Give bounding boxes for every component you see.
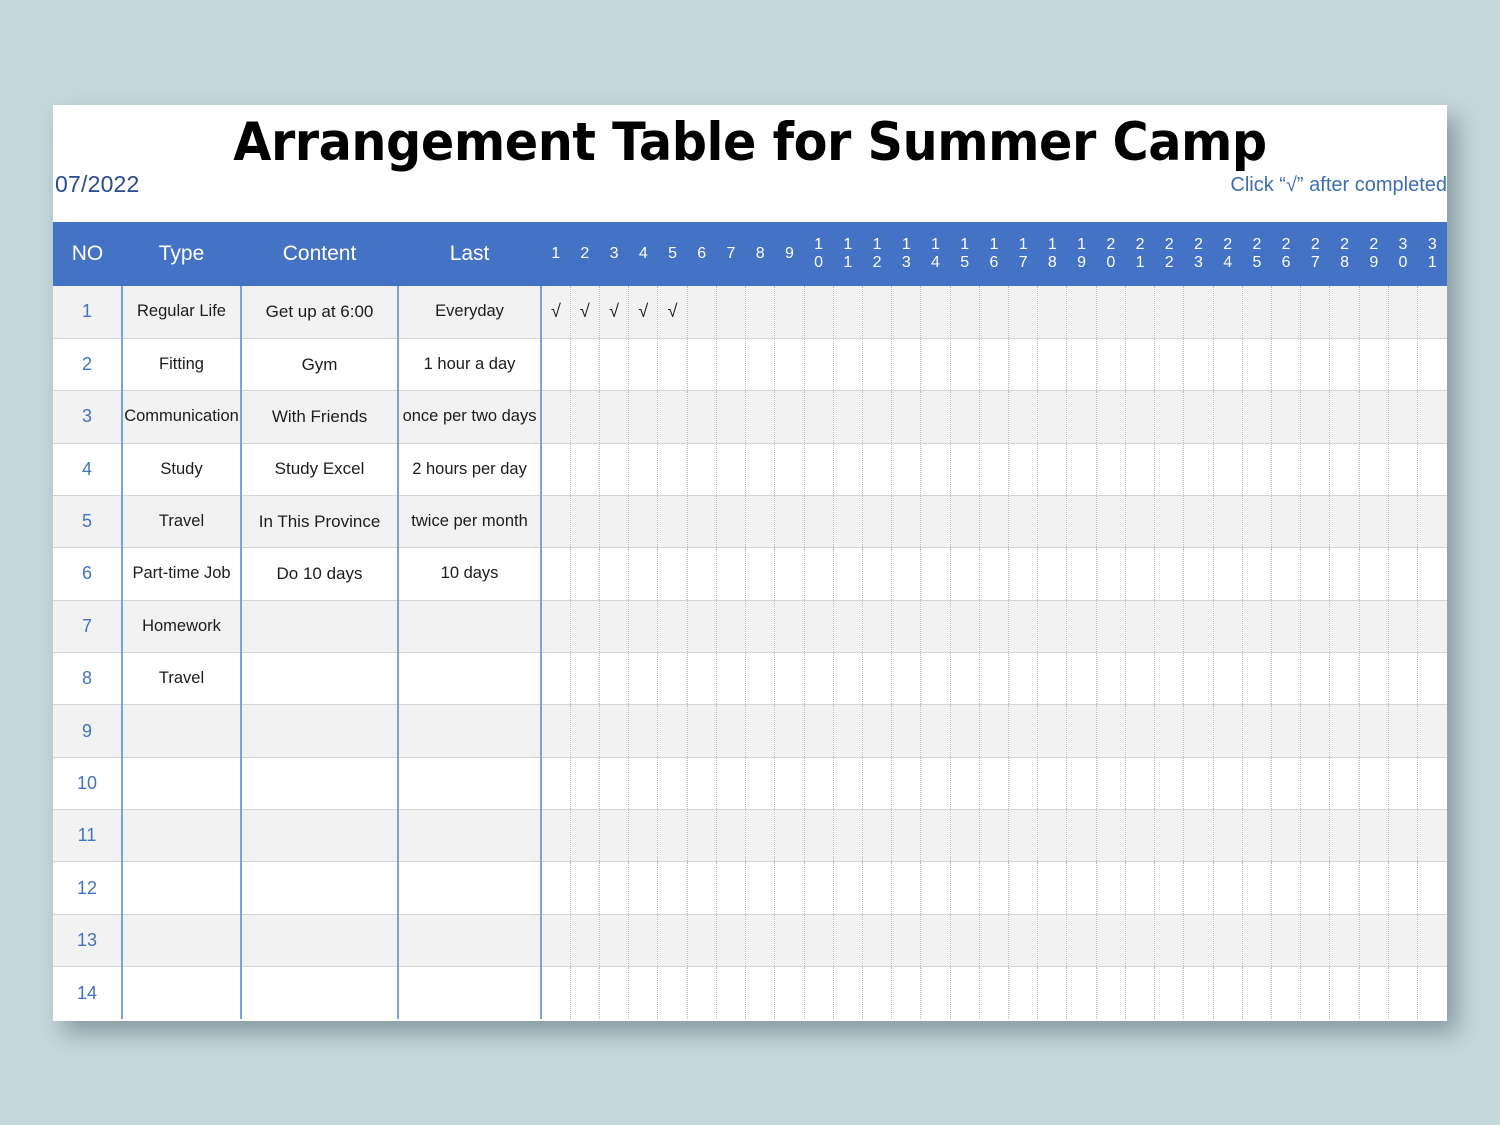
cell-day-8[interactable] [746,495,775,547]
cell-day-6[interactable] [687,914,716,966]
cell-day-9[interactable] [775,548,804,600]
cell-day-2[interactable] [570,757,599,809]
cell-day-12[interactable] [862,548,891,600]
column-header-day-17[interactable]: 17 [1009,222,1038,286]
cell-day-16[interactable] [979,600,1008,652]
cell-last[interactable]: once per two days [398,391,541,443]
cell-day-15[interactable] [950,338,979,390]
column-header-content[interactable]: Content [241,222,398,286]
cell-day-1[interactable] [541,810,570,862]
cell-day-27[interactable] [1301,600,1330,652]
cell-day-6[interactable] [687,286,716,338]
cell-day-8[interactable] [746,810,775,862]
cell-day-9[interactable] [775,286,804,338]
column-header-type[interactable]: Type [122,222,241,286]
cell-day-21[interactable] [1125,914,1154,966]
cell-day-18[interactable] [1038,548,1067,600]
cell-day-10[interactable] [804,705,833,757]
column-header-day-31[interactable]: 31 [1418,222,1447,286]
cell-day-24[interactable] [1213,653,1242,705]
column-header-day-11[interactable]: 11 [833,222,862,286]
cell-last[interactable] [398,862,541,914]
cell-content[interactable]: In This Province [241,495,398,547]
cell-day-24[interactable] [1213,757,1242,809]
cell-day-6[interactable] [687,653,716,705]
cell-day-19[interactable] [1067,757,1096,809]
cell-no[interactable]: 11 [53,810,122,862]
cell-day-31[interactable] [1418,600,1447,652]
cell-day-21[interactable] [1125,286,1154,338]
column-header-day-21[interactable]: 21 [1125,222,1154,286]
cell-day-10[interactable] [804,757,833,809]
cell-day-19[interactable] [1067,338,1096,390]
cell-day-27[interactable] [1301,967,1330,1019]
cell-day-17[interactable] [1009,548,1038,600]
cell-day-26[interactable] [1272,967,1301,1019]
cell-type[interactable] [122,705,241,757]
cell-content[interactable]: Gym [241,338,398,390]
cell-day-22[interactable] [1155,705,1184,757]
cell-day-19[interactable] [1067,810,1096,862]
cell-last[interactable]: 1 hour a day [398,338,541,390]
column-header-day-1[interactable]: 1 [541,222,570,286]
cell-day-19[interactable] [1067,495,1096,547]
column-header-day-18[interactable]: 18 [1038,222,1067,286]
cell-day-17[interactable] [1009,914,1038,966]
cell-day-17[interactable] [1009,757,1038,809]
cell-day-23[interactable] [1184,443,1213,495]
cell-day-22[interactable] [1155,286,1184,338]
column-header-day-27[interactable]: 27 [1301,222,1330,286]
cell-day-26[interactable] [1272,653,1301,705]
cell-day-13[interactable] [892,810,921,862]
cell-type[interactable]: Homework [122,600,241,652]
cell-day-26[interactable] [1272,914,1301,966]
cell-day-1[interactable] [541,495,570,547]
cell-day-28[interactable] [1330,600,1359,652]
cell-day-14[interactable] [921,757,950,809]
cell-day-9[interactable] [775,391,804,443]
cell-day-17[interactable] [1009,705,1038,757]
cell-day-25[interactable] [1242,757,1271,809]
cell-no[interactable]: 9 [53,705,122,757]
column-header-day-15[interactable]: 15 [950,222,979,286]
cell-day-15[interactable] [950,600,979,652]
cell-day-23[interactable] [1184,757,1213,809]
cell-day-2[interactable] [570,705,599,757]
cell-day-20[interactable] [1096,705,1125,757]
cell-day-31[interactable] [1418,862,1447,914]
cell-day-6[interactable] [687,391,716,443]
cell-day-16[interactable] [979,705,1008,757]
cell-day-21[interactable] [1125,653,1154,705]
cell-day-23[interactable] [1184,600,1213,652]
cell-content[interactable]: Study Excel [241,443,398,495]
cell-type[interactable] [122,914,241,966]
cell-day-2-checkmark-icon[interactable]: √ [570,286,599,338]
cell-day-11[interactable] [833,967,862,1019]
cell-day-21[interactable] [1125,862,1154,914]
cell-day-24[interactable] [1213,967,1242,1019]
cell-day-14[interactable] [921,443,950,495]
cell-day-20[interactable] [1096,810,1125,862]
cell-day-17[interactable] [1009,600,1038,652]
cell-day-9[interactable] [775,600,804,652]
cell-day-30[interactable] [1388,653,1417,705]
cell-day-3[interactable] [599,653,628,705]
cell-day-16[interactable] [979,391,1008,443]
cell-day-1[interactable] [541,600,570,652]
cell-day-26[interactable] [1272,443,1301,495]
cell-day-11[interactable] [833,286,862,338]
cell-day-25[interactable] [1242,914,1271,966]
cell-day-6[interactable] [687,705,716,757]
cell-day-26[interactable] [1272,286,1301,338]
cell-day-1[interactable] [541,705,570,757]
cell-day-3[interactable] [599,967,628,1019]
cell-day-4[interactable] [629,600,658,652]
cell-day-10[interactable] [804,338,833,390]
cell-day-30[interactable] [1388,391,1417,443]
cell-day-24[interactable] [1213,495,1242,547]
cell-type[interactable]: Travel [122,495,241,547]
cell-day-10[interactable] [804,600,833,652]
cell-day-18[interactable] [1038,757,1067,809]
cell-day-31[interactable] [1418,914,1447,966]
cell-day-7[interactable] [716,914,745,966]
cell-day-20[interactable] [1096,967,1125,1019]
cell-day-10[interactable] [804,967,833,1019]
cell-day-18[interactable] [1038,443,1067,495]
cell-day-3[interactable] [599,862,628,914]
cell-day-6[interactable] [687,495,716,547]
cell-day-27[interactable] [1301,391,1330,443]
column-header-no[interactable]: NO [53,222,122,286]
cell-day-22[interactable] [1155,653,1184,705]
cell-day-25[interactable] [1242,495,1271,547]
cell-day-13[interactable] [892,862,921,914]
cell-day-28[interactable] [1330,862,1359,914]
cell-day-22[interactable] [1155,914,1184,966]
cell-day-2[interactable] [570,600,599,652]
cell-day-23[interactable] [1184,862,1213,914]
cell-day-25[interactable] [1242,548,1271,600]
cell-day-31[interactable] [1418,810,1447,862]
cell-day-30[interactable] [1388,286,1417,338]
cell-day-24[interactable] [1213,810,1242,862]
cell-day-7[interactable] [716,757,745,809]
column-header-day-19[interactable]: 19 [1067,222,1096,286]
cell-day-29[interactable] [1359,967,1388,1019]
cell-day-12[interactable] [862,443,891,495]
cell-day-25[interactable] [1242,653,1271,705]
cell-last[interactable] [398,705,541,757]
cell-last[interactable] [398,914,541,966]
cell-last[interactable] [398,600,541,652]
cell-day-2[interactable] [570,495,599,547]
cell-day-7[interactable] [716,443,745,495]
cell-no[interactable]: 6 [53,548,122,600]
cell-day-29[interactable] [1359,495,1388,547]
cell-day-30[interactable] [1388,862,1417,914]
cell-day-3[interactable] [599,810,628,862]
cell-day-12[interactable] [862,286,891,338]
cell-day-13[interactable] [892,600,921,652]
cell-no[interactable]: 10 [53,757,122,809]
cell-day-24[interactable] [1213,391,1242,443]
cell-day-28[interactable] [1330,286,1359,338]
cell-day-30[interactable] [1388,810,1417,862]
cell-content[interactable] [241,757,398,809]
cell-day-10[interactable] [804,495,833,547]
cell-day-28[interactable] [1330,548,1359,600]
cell-day-4[interactable] [629,757,658,809]
cell-type[interactable] [122,862,241,914]
cell-day-21[interactable] [1125,443,1154,495]
cell-day-16[interactable] [979,757,1008,809]
cell-day-10[interactable] [804,391,833,443]
cell-day-6[interactable] [687,443,716,495]
cell-day-7[interactable] [716,653,745,705]
cell-day-4[interactable] [629,914,658,966]
cell-day-7[interactable] [716,810,745,862]
cell-day-8[interactable] [746,443,775,495]
cell-day-10[interactable] [804,443,833,495]
cell-day-8[interactable] [746,548,775,600]
cell-day-28[interactable] [1330,653,1359,705]
cell-day-14[interactable] [921,705,950,757]
cell-day-25[interactable] [1242,600,1271,652]
cell-day-12[interactable] [862,600,891,652]
cell-day-7[interactable] [716,338,745,390]
cell-day-2[interactable] [570,862,599,914]
column-header-day-8[interactable]: 8 [746,222,775,286]
cell-day-15[interactable] [950,391,979,443]
column-header-day-7[interactable]: 7 [716,222,745,286]
cell-day-11[interactable] [833,653,862,705]
cell-day-16[interactable] [979,443,1008,495]
cell-day-20[interactable] [1096,757,1125,809]
cell-day-13[interactable] [892,338,921,390]
cell-type[interactable] [122,810,241,862]
cell-day-21[interactable] [1125,600,1154,652]
column-header-day-3[interactable]: 3 [599,222,628,286]
cell-day-4[interactable] [629,338,658,390]
cell-no[interactable]: 12 [53,862,122,914]
column-header-day-28[interactable]: 28 [1330,222,1359,286]
cell-day-10[interactable] [804,862,833,914]
cell-day-23[interactable] [1184,705,1213,757]
cell-content[interactable] [241,653,398,705]
cell-no[interactable]: 2 [53,338,122,390]
cell-day-30[interactable] [1388,548,1417,600]
cell-day-2[interactable] [570,914,599,966]
cell-day-5[interactable] [658,914,687,966]
cell-day-4[interactable] [629,443,658,495]
cell-day-25[interactable] [1242,338,1271,390]
cell-day-7[interactable] [716,862,745,914]
column-header-day-13[interactable]: 13 [892,222,921,286]
cell-day-25[interactable] [1242,391,1271,443]
cell-day-6[interactable] [687,600,716,652]
cell-day-28[interactable] [1330,495,1359,547]
cell-day-7[interactable] [716,548,745,600]
cell-day-13[interactable] [892,757,921,809]
cell-day-16[interactable] [979,967,1008,1019]
cell-content[interactable]: Get up at 6:00 [241,286,398,338]
cell-day-11[interactable] [833,705,862,757]
cell-day-27[interactable] [1301,443,1330,495]
cell-day-14[interactable] [921,914,950,966]
cell-day-30[interactable] [1388,338,1417,390]
cell-day-13[interactable] [892,495,921,547]
column-header-day-23[interactable]: 23 [1184,222,1213,286]
cell-day-21[interactable] [1125,757,1154,809]
cell-day-6[interactable] [687,338,716,390]
cell-day-11[interactable] [833,757,862,809]
cell-day-22[interactable] [1155,967,1184,1019]
cell-day-14[interactable] [921,391,950,443]
cell-day-10[interactable] [804,810,833,862]
cell-day-8[interactable] [746,286,775,338]
cell-day-15[interactable] [950,548,979,600]
cell-day-24[interactable] [1213,862,1242,914]
cell-day-10[interactable] [804,914,833,966]
column-header-day-30[interactable]: 30 [1388,222,1417,286]
cell-day-23[interactable] [1184,653,1213,705]
cell-day-2[interactable] [570,810,599,862]
cell-type[interactable]: Regular Life [122,286,241,338]
column-header-day-4[interactable]: 4 [629,222,658,286]
cell-day-23[interactable] [1184,391,1213,443]
cell-day-22[interactable] [1155,548,1184,600]
cell-day-22[interactable] [1155,391,1184,443]
column-header-last[interactable]: Last [398,222,541,286]
cell-day-31[interactable] [1418,286,1447,338]
cell-day-8[interactable] [746,600,775,652]
cell-last[interactable] [398,967,541,1019]
cell-day-14[interactable] [921,338,950,390]
cell-day-11[interactable] [833,548,862,600]
cell-day-27[interactable] [1301,757,1330,809]
cell-day-8[interactable] [746,967,775,1019]
cell-day-29[interactable] [1359,286,1388,338]
cell-day-8[interactable] [746,338,775,390]
cell-day-22[interactable] [1155,338,1184,390]
cell-day-5[interactable] [658,967,687,1019]
cell-day-31[interactable] [1418,548,1447,600]
cell-day-31[interactable] [1418,967,1447,1019]
cell-day-4[interactable] [629,495,658,547]
cell-day-26[interactable] [1272,705,1301,757]
cell-day-19[interactable] [1067,914,1096,966]
cell-day-2[interactable] [570,967,599,1019]
cell-day-23[interactable] [1184,967,1213,1019]
cell-day-4[interactable] [629,705,658,757]
cell-day-10[interactable] [804,653,833,705]
cell-day-5[interactable] [658,548,687,600]
cell-day-24[interactable] [1213,914,1242,966]
column-header-day-9[interactable]: 9 [775,222,804,286]
cell-day-15[interactable] [950,443,979,495]
cell-day-16[interactable] [979,338,1008,390]
cell-day-12[interactable] [862,495,891,547]
cell-day-9[interactable] [775,862,804,914]
cell-day-16[interactable] [979,810,1008,862]
cell-day-3[interactable] [599,757,628,809]
cell-day-2[interactable] [570,548,599,600]
cell-no[interactable]: 7 [53,600,122,652]
cell-day-31[interactable] [1418,653,1447,705]
cell-day-28[interactable] [1330,338,1359,390]
cell-day-28[interactable] [1330,443,1359,495]
cell-day-13[interactable] [892,443,921,495]
cell-day-9[interactable] [775,705,804,757]
column-header-day-5[interactable]: 5 [658,222,687,286]
cell-day-23[interactable] [1184,914,1213,966]
cell-day-7[interactable] [716,600,745,652]
cell-day-19[interactable] [1067,286,1096,338]
cell-day-24[interactable] [1213,338,1242,390]
cell-day-5[interactable] [658,757,687,809]
cell-day-11[interactable] [833,443,862,495]
cell-day-16[interactable] [979,862,1008,914]
cell-day-7[interactable] [716,967,745,1019]
cell-day-29[interactable] [1359,705,1388,757]
cell-day-20[interactable] [1096,495,1125,547]
cell-day-3[interactable] [599,338,628,390]
cell-day-16[interactable] [979,653,1008,705]
cell-day-9[interactable] [775,338,804,390]
cell-day-5[interactable] [658,600,687,652]
cell-last[interactable] [398,653,541,705]
cell-day-9[interactable] [775,810,804,862]
cell-day-11[interactable] [833,600,862,652]
cell-day-20[interactable] [1096,286,1125,338]
cell-day-19[interactable] [1067,548,1096,600]
cell-day-20[interactable] [1096,443,1125,495]
cell-day-13[interactable] [892,286,921,338]
cell-day-25[interactable] [1242,967,1271,1019]
cell-day-19[interactable] [1067,600,1096,652]
cell-day-4-checkmark-icon[interactable]: √ [629,286,658,338]
cell-day-28[interactable] [1330,705,1359,757]
cell-day-23[interactable] [1184,286,1213,338]
cell-day-9[interactable] [775,443,804,495]
cell-day-20[interactable] [1096,391,1125,443]
cell-last[interactable]: 10 days [398,548,541,600]
cell-day-22[interactable] [1155,443,1184,495]
cell-day-21[interactable] [1125,967,1154,1019]
cell-content[interactable]: With Friends [241,391,398,443]
cell-day-5[interactable] [658,338,687,390]
column-header-day-22[interactable]: 22 [1155,222,1184,286]
cell-day-31[interactable] [1418,391,1447,443]
cell-day-12[interactable] [862,338,891,390]
cell-day-8[interactable] [746,862,775,914]
cell-day-9[interactable] [775,914,804,966]
cell-day-3[interactable] [599,914,628,966]
cell-day-26[interactable] [1272,548,1301,600]
cell-day-5[interactable] [658,653,687,705]
cell-day-18[interactable] [1038,967,1067,1019]
cell-day-15[interactable] [950,967,979,1019]
cell-day-5[interactable] [658,705,687,757]
cell-day-4[interactable] [629,862,658,914]
cell-day-5[interactable] [658,391,687,443]
cell-day-3[interactable] [599,443,628,495]
cell-day-18[interactable] [1038,653,1067,705]
